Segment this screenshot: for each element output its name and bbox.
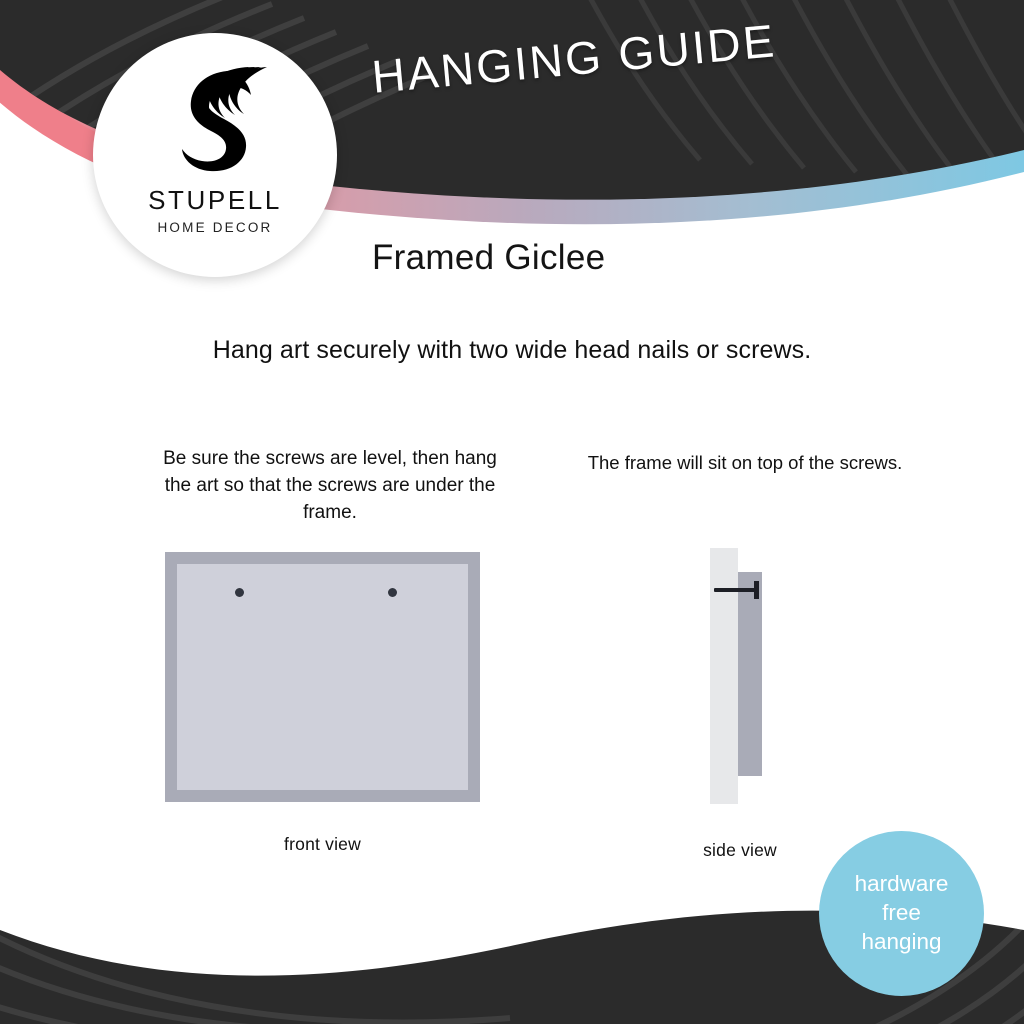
side-view-caption: The frame will sit on top of the screws. — [580, 450, 910, 476]
side-view-label: side view — [660, 840, 820, 861]
front-view-label: front view — [165, 834, 480, 855]
side-view-wall — [710, 548, 738, 804]
badge-line-3: hanging — [861, 928, 941, 957]
swoosh-s-logo-icon — [155, 61, 275, 181]
screw-dot-left — [235, 588, 244, 597]
brand-tagline: HOME DECOR — [157, 220, 272, 235]
screw-dot-right — [388, 588, 397, 597]
hanging-guide-page: HANGING GUIDE STUPELL HOME DECOR Framed … — [0, 0, 1024, 1024]
front-view-diagram — [165, 552, 480, 802]
side-view-frame — [738, 572, 762, 776]
front-view-caption: Be sure the screws are level, then hang … — [150, 446, 510, 527]
badge-line-1: hardware — [855, 870, 949, 899]
brand-name: STUPELL — [148, 185, 282, 216]
page-title: HANGING GUIDE — [370, 3, 893, 104]
product-type-label: Framed Giclee — [372, 238, 605, 278]
badge-line-2: free — [882, 899, 921, 928]
screw-shaft-icon — [714, 588, 758, 592]
lead-instruction: Hang art securely with two wide head nai… — [0, 336, 1024, 365]
side-view-diagram — [700, 548, 780, 804]
front-view-art-panel — [177, 564, 468, 790]
hardware-free-hanging-badge: hardware free hanging — [819, 831, 984, 996]
screw-head-icon — [754, 581, 759, 599]
brand-logo-badge: STUPELL HOME DECOR — [93, 33, 337, 277]
